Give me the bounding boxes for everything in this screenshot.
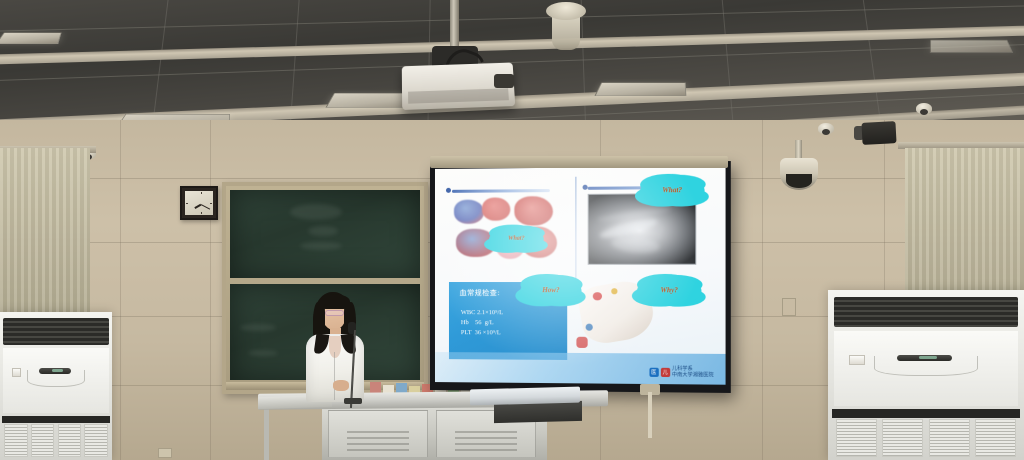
projected-slide: 血常规检查: WBC 2.1×10⁹/L Hb 56 g/L PLT 36 ×1… — [435, 166, 726, 385]
wall-clock — [180, 186, 218, 220]
projection-screen: 血常规检查: WBC 2.1×10⁹/L Hb 56 g/L PLT 36 ×1… — [430, 161, 731, 393]
ceiling-dome-cap — [546, 2, 586, 20]
ac-top-grille — [834, 297, 1018, 328]
wall-switch-plate — [782, 298, 796, 316]
screen-pull-cord — [648, 392, 652, 438]
slide-footer-band: 医 儿 儿科学系 中南大学湘雅医院 — [435, 352, 726, 384]
clock-hour-hand — [195, 204, 202, 209]
podium-leg — [264, 404, 269, 460]
presenter-hand — [333, 380, 349, 391]
dome-security-camera — [780, 158, 818, 190]
ac-front-panel — [834, 331, 1018, 406]
presenter-coat-seam — [334, 352, 335, 400]
green-chalkboard-upper — [230, 190, 420, 278]
projection-screen-case — [430, 156, 728, 168]
ac-bottom-grille — [4, 424, 107, 457]
ac-label-sticker — [849, 355, 866, 365]
ac-display — [897, 355, 952, 361]
wall-vent — [238, 158, 268, 166]
lab-panel-heading: 血常规检查: — [460, 288, 501, 298]
lecture-hall-photo: 血常规检查: WBC 2.1×10⁹/L Hb 56 g/L PLT 36 ×1… — [0, 0, 1024, 460]
security-camera-ceiling-1 — [818, 123, 834, 134]
clock-face — [185, 191, 213, 215]
ceiling-light-panel — [594, 83, 686, 97]
presenter-eyeglasses — [325, 310, 344, 316]
speech-bubble-what-cells: What? — [489, 226, 544, 252]
projector-lens — [494, 74, 514, 88]
security-camera-ceiling-2 — [916, 103, 932, 114]
presenter-lapel — [329, 336, 341, 358]
ac-display — [39, 368, 71, 373]
microphone-base — [344, 398, 362, 404]
ac-bottom-grille — [836, 419, 1016, 456]
ceiling-light-panel — [930, 40, 1013, 53]
logo-badge-pediatrics: 儿 — [660, 368, 669, 377]
wall-speaker — [861, 121, 896, 145]
ac-top-grille — [3, 318, 108, 345]
institution-logo: 医 儿 儿科学系 中南大学湘雅医院 — [649, 366, 714, 379]
window-curtain-left — [0, 148, 90, 316]
ac-dark-band — [2, 416, 110, 423]
podium-side-shelf-right[interactable] — [470, 387, 580, 406]
wall-outlet — [158, 448, 172, 458]
air-conditioner-left — [0, 312, 112, 460]
institution-name: 儿科学系 中南大学湘雅医院 — [672, 366, 714, 379]
ceiling-light-panel — [0, 32, 62, 43]
clock-minute-hand — [201, 204, 210, 210]
ac-dark-band — [832, 409, 1020, 418]
lab-panel-values: WBC 2.1×10⁹/L Hb 56 g/L PLT 36 ×10⁹/L — [461, 308, 503, 338]
ac-front-panel — [3, 348, 108, 413]
institution-line-2: 中南大学湘雅医院 — [672, 372, 714, 379]
slide-arrow-left — [452, 189, 549, 193]
slide-arrow-dot — [446, 188, 451, 193]
air-conditioner-right — [828, 290, 1024, 460]
speech-bubble-how: How? — [521, 275, 582, 305]
presenter — [300, 288, 370, 403]
logo-badge-medical: 医 — [649, 368, 658, 377]
podium-cabinet-door-left[interactable] — [328, 410, 428, 458]
ac-label-sticker — [12, 368, 21, 377]
projector-mount-rod — [450, 0, 459, 52]
